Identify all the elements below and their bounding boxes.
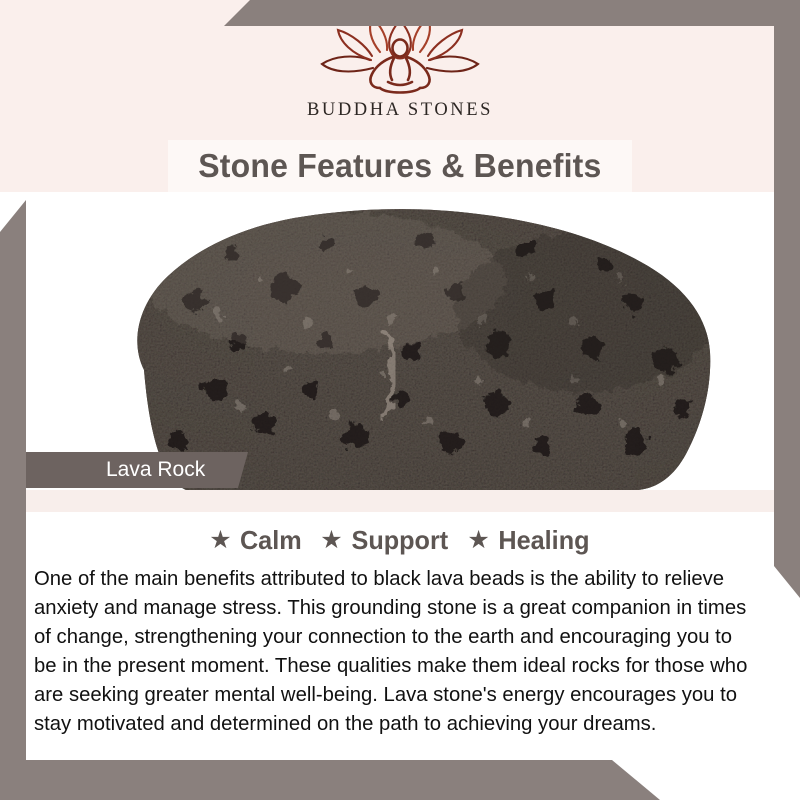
- brand-name: BUDDHA STONES: [307, 100, 493, 121]
- frame-right-accent: [774, 26, 800, 598]
- frame-bottom-accent: [0, 760, 660, 800]
- benefit-item-calm: ★ Calm: [209, 525, 302, 556]
- body-area: ★ Calm ★ Support ★ Healing One of the ma…: [26, 512, 774, 760]
- title-plate: Stone Features & Benefits: [168, 140, 632, 192]
- benefit-item-support: ★ Support: [320, 525, 449, 556]
- benefit-label: Calm: [240, 525, 302, 556]
- star-icon: ★: [209, 528, 231, 553]
- frame-left-accent: [0, 200, 26, 760]
- photo-caption-bar: Lava Rock: [26, 452, 248, 488]
- star-icon: ★: [320, 528, 342, 553]
- photo-caption-label: Lava Rock: [106, 458, 205, 482]
- benefit-label: Healing: [498, 525, 589, 556]
- lotus-meditation-figure-icon: [305, 14, 495, 98]
- stone-features-card: BUDDHA STONES Stone Features & Benefits: [0, 0, 800, 800]
- page-title: Stone Features & Benefits: [198, 147, 601, 185]
- divider-strip: [26, 490, 774, 512]
- benefit-item-healing: ★ Healing: [467, 525, 590, 556]
- description-paragraph: One of the main benefits attributed to b…: [34, 564, 755, 738]
- benefit-label: Support: [351, 525, 448, 556]
- benefits-row: ★ Calm ★ Support ★ Healing: [26, 520, 774, 560]
- star-icon: ★: [467, 528, 489, 553]
- lava-rock-photo: [26, 192, 774, 490]
